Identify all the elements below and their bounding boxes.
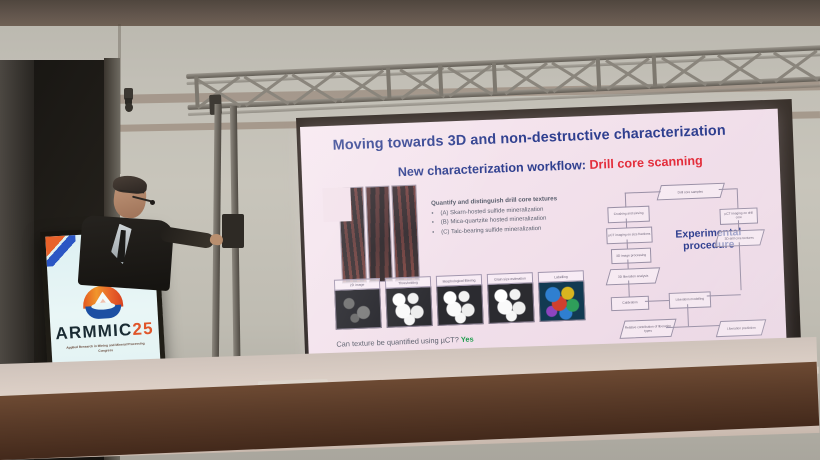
truss-post (652, 55, 657, 87)
truss-post (596, 57, 601, 89)
workflow-step: 2D image (334, 288, 382, 330)
headset-mic-tip-icon (150, 200, 155, 205)
bullet-list: Quantify and distinguish drill core text… (431, 193, 622, 239)
brand-year: 25 (132, 319, 154, 339)
drill-core-photo (365, 186, 393, 283)
workflow-step-image (334, 288, 382, 330)
flow-node: Liberation modelling (669, 291, 712, 309)
slide-subtitle-lead: New characterization workflow: (398, 158, 590, 179)
workflow-step-label: 2D image (334, 278, 380, 291)
flow-node: µCT imaging on drill core (719, 207, 758, 224)
flow-connector (625, 191, 661, 193)
bullet-marker-icon: • (432, 230, 437, 236)
presenter-torso (78, 215, 175, 291)
question-answer: Yes (461, 335, 474, 344)
slide-title: Moving towards 3D and non-destructive ch… (332, 121, 762, 153)
workflow-step-label: Labelling (538, 270, 584, 283)
security-camera-lens-icon (125, 103, 133, 112)
workflow-step: Thresholding (385, 286, 433, 328)
slide-subtitle-accent: Drill core scanning (589, 154, 703, 172)
logo-wave (85, 305, 122, 320)
truss-post (386, 67, 391, 99)
security-camera-icon (124, 88, 133, 100)
flow-node: Calibration (611, 296, 650, 311)
truss-brace (504, 62, 549, 93)
flow-node: µCT imaging on size fractions (606, 227, 653, 245)
flow-node: 3D liberation analysis (606, 267, 661, 285)
truss-brace (340, 69, 385, 100)
truss-brace (448, 64, 493, 95)
workflow-step-label: Thresholding (385, 276, 431, 289)
truss-pole-bracket (222, 214, 244, 248)
flow-node: Drill core samples (657, 183, 725, 201)
truss-brace (606, 57, 651, 88)
flow-node: Liberation prediction (716, 319, 767, 337)
truss-brace (774, 49, 819, 80)
workflow-step-image (487, 282, 535, 324)
flow-node: Relative contribution of liberation type… (619, 319, 676, 339)
workflow-step-label: Grain size estimation (487, 272, 533, 285)
presenter (74, 176, 204, 286)
drill-core-photo (392, 185, 420, 282)
flow-connector (719, 188, 737, 189)
bullet-marker-icon: • (431, 211, 436, 217)
flow-connector (707, 294, 741, 296)
flow-connector (645, 300, 669, 302)
workflow-thumbnail-row: 2D image Thresholding Morphological filt… (334, 275, 576, 330)
truss-brace (662, 54, 707, 85)
flow-connector (737, 188, 738, 208)
ceiling-band (0, 0, 820, 26)
flow-node: 3D image processing (611, 248, 652, 265)
flow-node: 3D drill core textures (714, 229, 765, 247)
drill-core-photo-mask (322, 187, 351, 222)
workflow-step-image (538, 280, 586, 322)
brand-name: ARMMIC (55, 320, 133, 343)
question-text: Can texture be quantified using µCT? (336, 335, 461, 349)
truss-brace (718, 52, 763, 83)
workflow-step: Labelling (538, 280, 586, 322)
slide-subtitle: New characterization workflow: Drill cor… (398, 151, 778, 180)
flow-node: Crushing and sieving (607, 206, 650, 224)
presentation-photo: Moving towards 3D and non-destructive ch… (0, 0, 820, 460)
truss-post (492, 62, 497, 94)
workflow-step-label: Morphological filtering (436, 274, 482, 287)
armmic-logo-icon (82, 285, 124, 319)
podium-corner-graphic (45, 235, 77, 267)
workflow-step: Grain size estimation (487, 282, 535, 324)
truss-brace (244, 73, 289, 104)
workflow-step: Morphological filtering (436, 284, 484, 326)
experimental-procedure-flowchart: Experimentalprocedure Drill core samples… (603, 181, 776, 365)
workflow-step-image (385, 286, 433, 328)
workflow-step-image (436, 284, 484, 326)
truss-brace (552, 59, 597, 90)
flow-connector (625, 193, 626, 208)
bullet-marker-icon: • (432, 220, 437, 226)
truss-brace (292, 71, 337, 102)
